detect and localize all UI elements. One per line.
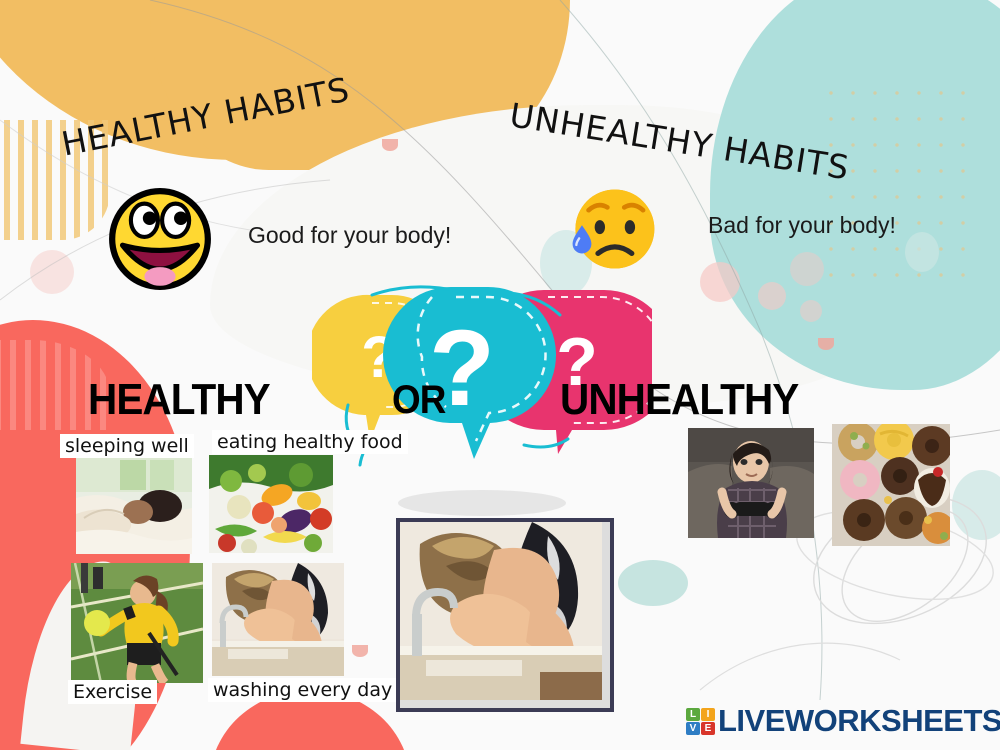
logo-tiles-icon: L I V E (686, 708, 715, 735)
decorative-mark-icon (818, 338, 834, 350)
logo-tile-e: E (701, 722, 715, 735)
bad-for-body-caption: Bad for your body! (708, 212, 896, 239)
exercise-photo[interactable] (71, 563, 203, 683)
sad-sweat-face-icon (566, 182, 660, 291)
awesome-face-icon (108, 187, 212, 291)
washing-photo-caption: washing every day (208, 678, 397, 702)
healthy-food-photo-caption: eating healthy food (212, 430, 408, 454)
healthy-food-photo[interactable] (209, 455, 333, 553)
liveworksheets-logo[interactable]: L I V E LIVEWORKSHEETS (686, 703, 1000, 739)
decorative-mark-icon (352, 645, 368, 657)
donuts-photo[interactable] (832, 424, 950, 546)
unhealthy-choice-label[interactable]: UNHEALTHY (560, 375, 798, 425)
logo-tile-l: L (686, 708, 700, 721)
logo-tile-i: I (701, 708, 715, 721)
sleeping-photo-caption: sleeping well (60, 434, 194, 458)
video-game-photo[interactable] (688, 428, 814, 538)
washing-photo[interactable] (212, 563, 344, 676)
exercise-photo-caption: Exercise (68, 680, 157, 704)
sleeping-photo[interactable] (76, 458, 192, 554)
logo-wordmark: LIVEWORKSHEETS (718, 703, 1000, 739)
good-for-body-caption: Good for your body! (248, 222, 451, 249)
decorative-mark-icon (382, 139, 398, 151)
washing-large-photo[interactable] (396, 518, 614, 712)
cyan-question-bubble: ? (383, 287, 556, 459)
or-label: OR (392, 378, 445, 423)
worksheet-canvas: HEALTHY HABITS UNHEALTHY HABITS Good for… (0, 0, 1000, 750)
healthy-choice-label[interactable]: HEALTHY (88, 375, 270, 425)
logo-tile-v: V (686, 722, 700, 735)
